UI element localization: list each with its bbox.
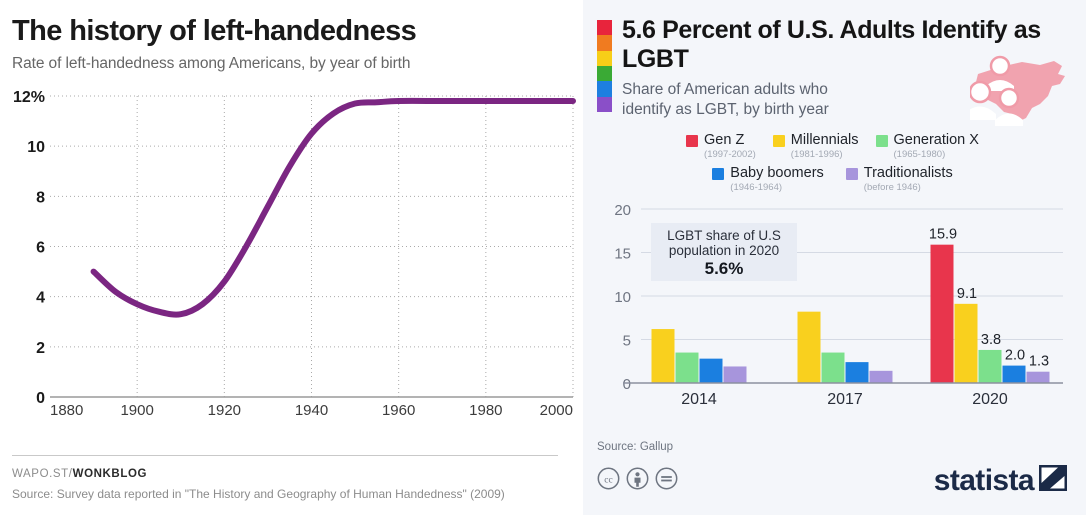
bar-2017-traditionalists[interactable]	[870, 371, 893, 383]
chart-legend: Gen Z(1997-2002)Millennials(1981-1996)Ge…	[597, 132, 1068, 194]
statista-logo[interactable]: statista	[934, 464, 1068, 497]
legend-swatch-icon	[846, 168, 858, 180]
bar-2014-traditionalists[interactable]	[724, 366, 747, 383]
legend-swatch-icon	[686, 135, 698, 147]
legend-item-generation-x[interactable]: Generation X(1965-1980)	[876, 132, 979, 161]
legend-series-name: Millennials	[791, 132, 859, 148]
statista-mark-icon	[1038, 464, 1068, 497]
legend-series-name: Traditionalists	[864, 165, 953, 181]
infographic-root: The history of left-handedness Rate of l…	[0, 0, 1086, 515]
right-panel-statista: 5.6 Percent of U.S. Adults Identify as L…	[583, 0, 1086, 515]
bar-2014-baby-boomers[interactable]	[700, 359, 723, 383]
y-tick-label: 20	[614, 202, 631, 219]
bar-chart-x-axis-labels: 201420172020	[681, 391, 1008, 408]
x-tick-label: 1900	[120, 402, 153, 419]
bar-value-label: 9.1	[957, 286, 977, 302]
rainbow-flag-icon	[597, 20, 612, 112]
y-tick-label: 12%	[13, 89, 45, 106]
bar-chart-y-axis-labels: 05101520	[614, 202, 631, 393]
cc-by-icon[interactable]	[626, 467, 649, 495]
bar-value-label: 2.0	[1005, 348, 1025, 364]
legend-labels: Generation X(1965-1980)	[894, 132, 979, 161]
statista-wordmark: statista	[934, 466, 1034, 496]
legend-swatch-icon	[712, 168, 724, 180]
bar-value-label: 1.3	[1029, 354, 1049, 370]
legend-swatch-icon	[773, 135, 785, 147]
y-tick-label: 15	[614, 246, 631, 263]
callout-line2: population in 2020	[669, 243, 779, 258]
legend-series-years: (1946-1964)	[730, 182, 824, 194]
legend-series-name: Gen Z	[704, 132, 756, 148]
page-subtitle: Rate of left-handedness among Americans,…	[12, 55, 571, 73]
legend-swatch-icon	[876, 135, 888, 147]
bar-2017-millennials[interactable]	[798, 312, 821, 383]
line-chart-svg: 024681012% 1880190019201940196019802000	[12, 82, 583, 422]
line-chart: 024681012% 1880190019201940196019802000	[12, 82, 583, 422]
y-tick-label: 2	[36, 340, 45, 357]
x-tick-label: 1880	[50, 402, 83, 419]
statista-subtitle-line1: Share of American adults who	[622, 81, 828, 98]
page-title: The history of left-handedness	[12, 14, 571, 48]
creative-commons-icons: cc	[597, 467, 678, 495]
x-tick-label: 2020	[972, 391, 1008, 408]
legend-row-secondary: Baby boomers(1946-1964)Traditionalists(b…	[597, 165, 1068, 194]
legend-row-primary: Gen Z(1997-2002)Millennials(1981-1996)Ge…	[597, 132, 1068, 161]
bar-value-label: 15.9	[929, 227, 957, 243]
credit-prefix: WAPO.ST/	[12, 468, 73, 480]
legend-item-millennials[interactable]: Millennials(1981-1996)	[773, 132, 859, 161]
bar-2014-generation-x[interactable]	[676, 353, 699, 383]
rainbow-stripe-4	[597, 81, 612, 96]
legend-series-years: (1997-2002)	[704, 149, 756, 161]
bar-chart: 05101520 LGBT share of U.Spopulation in …	[593, 199, 1068, 409]
bar-2020-baby-boomers[interactable]	[1003, 366, 1026, 383]
left-handedness-curve	[94, 101, 573, 315]
legend-item-traditionalists[interactable]: Traditionalists(before 1946)	[846, 165, 953, 194]
x-tick-label: 2000	[540, 402, 573, 419]
credit-brand: WONKBLOG	[73, 468, 147, 480]
cc-nd-icon[interactable]	[655, 467, 678, 495]
y-tick-label: 6	[36, 240, 45, 257]
legend-labels: Millennials(1981-1996)	[791, 132, 859, 161]
statista-bottom-bar: cc	[597, 464, 1068, 497]
x-tick-label: 2014	[681, 391, 717, 408]
bar-chart-callout: LGBT share of U.Spopulation in 20205.6%	[651, 223, 797, 281]
y-tick-label: 10	[27, 139, 45, 156]
source-note: Source: Survey data reported in "The His…	[12, 487, 558, 501]
bar-2017-baby-boomers[interactable]	[846, 362, 869, 383]
y-tick-label: 10	[614, 289, 631, 306]
bar-2020-millennials[interactable]	[955, 304, 978, 383]
x-tick-label: 1980	[469, 402, 502, 419]
y-tick-label: 4	[36, 290, 45, 307]
legend-labels: Baby boomers(1946-1964)	[730, 165, 824, 194]
left-panel-wonkblog: The history of left-handedness Rate of l…	[0, 0, 583, 515]
legend-series-years: (1965-1980)	[894, 149, 979, 161]
legend-labels: Traditionalists(before 1946)	[864, 165, 953, 194]
wonkblog-footer: WAPO.ST/WONKBLOG Source: Survey data rep…	[12, 455, 558, 501]
x-tick-label: 1940	[295, 402, 328, 419]
rainbow-stripe-3	[597, 66, 612, 81]
legend-item-baby-boomers[interactable]: Baby boomers(1946-1964)	[712, 165, 824, 194]
y-tick-label: 5	[623, 333, 631, 350]
bar-2014-millennials[interactable]	[652, 329, 675, 383]
x-tick-label: 1960	[382, 402, 415, 419]
statista-source: Source: Gallup	[597, 441, 673, 453]
callout-value: 5.6%	[705, 259, 744, 278]
rainbow-stripe-5	[597, 97, 612, 112]
x-tick-label: 1920	[208, 402, 241, 419]
y-tick-label: 0	[623, 376, 631, 393]
legend-series-years: (before 1946)	[864, 182, 953, 194]
legend-series-name: Generation X	[894, 132, 979, 148]
us-map-people-icon	[970, 52, 1072, 130]
line-chart-x-axis-labels: 1880190019201940196019802000	[50, 402, 573, 419]
svg-text:cc: cc	[604, 475, 612, 485]
bar-value-label: 3.8	[981, 332, 1001, 348]
bar-chart-svg: 05101520 LGBT share of U.Spopulation in …	[593, 199, 1068, 409]
y-tick-label: 8	[36, 189, 45, 206]
legend-series-years: (1981-1996)	[791, 149, 859, 161]
rainbow-stripe-2	[597, 51, 612, 66]
statista-subtitle-line2: identify as LGBT, by birth year	[622, 101, 829, 118]
rainbow-stripe-0	[597, 20, 612, 35]
cc-icon[interactable]: cc	[597, 467, 620, 495]
bar-2017-generation-x[interactable]	[822, 353, 845, 383]
bar-2020-traditionalists[interactable]	[1027, 372, 1050, 383]
line-chart-y-axis-labels: 024681012%	[13, 89, 45, 407]
rainbow-stripe-1	[597, 35, 612, 50]
bar-2020-generation-x[interactable]	[979, 350, 1002, 383]
callout-line1: LGBT share of U.S	[667, 228, 781, 243]
bar-2020-gen-z[interactable]	[931, 245, 954, 383]
legend-labels: Gen Z(1997-2002)	[704, 132, 756, 161]
line-chart-gridlines	[50, 96, 573, 397]
x-tick-label: 2017	[827, 391, 863, 408]
legend-item-gen-z[interactable]: Gen Z(1997-2002)	[686, 132, 756, 161]
y-tick-label: 0	[36, 390, 45, 407]
wonkblog-credit: WAPO.ST/WONKBLOG	[12, 468, 558, 480]
legend-series-name: Baby boomers	[730, 165, 824, 181]
